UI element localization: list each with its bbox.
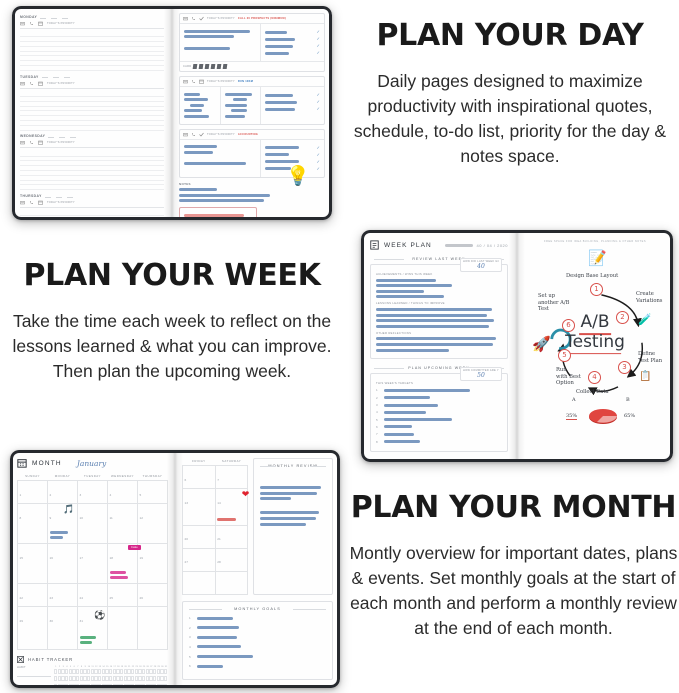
day-number: 27 xyxy=(185,560,188,564)
day-number: 3 xyxy=(80,493,82,497)
check-icon: ✓ xyxy=(317,160,320,164)
list-item: 5 xyxy=(376,418,502,422)
priority-text: Call 20 prospects (minimum) xyxy=(238,17,286,20)
check-icon: ✓ xyxy=(317,167,320,171)
week-planner-right-page: FREE SPACE FOR IDEA BUILDING, PLANNING &… xyxy=(517,230,673,462)
day-block-tuesday: TUESDAY TODAY'S PRIORITY xyxy=(20,75,164,130)
day-icon-row: TODAY'S PRIORITY xyxy=(20,81,164,89)
step-5-label: Run with Best Option xyxy=(556,367,581,387)
table-row: 29 30 31 ⚽ xyxy=(18,607,168,649)
phone-icon xyxy=(29,200,34,205)
month-name-value: January xyxy=(77,459,106,468)
day-number: 5 xyxy=(140,493,142,497)
priority-label: TODAY'S PRIORITY xyxy=(47,141,75,144)
day-number: 18 xyxy=(110,556,113,560)
check-icon: ✓ xyxy=(317,146,320,150)
check-icon: ✓ xyxy=(317,93,320,97)
date-blanks xyxy=(42,75,70,78)
day-number: 15 xyxy=(20,556,23,560)
day-number: 22 xyxy=(20,596,23,600)
monthly-review-lines xyxy=(260,486,326,526)
day-name: THURSDAY xyxy=(20,194,42,198)
table-row: 1 2 3 4 5 xyxy=(18,481,168,504)
habit-name-column: HABIT xyxy=(17,666,51,688)
list-item: 3 xyxy=(376,403,502,407)
calendar-header-row: SUNDAY MONDAY TUESDAY WEDNESDAY THURSDAY xyxy=(18,473,168,481)
calendar-day-cell[interactable] xyxy=(183,571,216,594)
week-date-value: 40 / 04 / 2020 xyxy=(477,243,508,248)
lightbulb-sticker-icon: 💡 xyxy=(286,167,310,186)
day-number: 30 xyxy=(50,619,53,623)
habit-tracker-title: HABIT TRACKER xyxy=(28,657,73,662)
calendar-day-cell[interactable]: 10 xyxy=(78,504,108,544)
calendar-icon xyxy=(38,200,43,205)
ab-testing-diagram: A/B Testing 📝 Design Base Layout 1 Creat… xyxy=(526,243,664,448)
calendar-day-cell[interactable]: 2 xyxy=(48,481,78,504)
commitment-score-value: 50 xyxy=(463,372,499,379)
priority-label: TODAY'S PRIORITY xyxy=(207,17,235,20)
calendar-day-cell[interactable]: 6 xyxy=(183,466,216,489)
table-row: 13 14 ❤ xyxy=(183,489,248,526)
list-item: 4 xyxy=(376,410,502,414)
phone-icon xyxy=(191,132,196,137)
schedule-column-left xyxy=(180,87,220,124)
achievements-lines xyxy=(376,279,502,299)
calendar-day-cell[interactable]: 24 xyxy=(78,584,108,607)
heart-sticker-icon: ❤ xyxy=(242,490,250,499)
page-title: PLAN YOUR MONTH xyxy=(348,490,679,525)
promo-body: Take the time each week to reflect on th… xyxy=(2,309,342,384)
document-pencil-icon: 📝 xyxy=(588,249,607,267)
step-6-number: 6 xyxy=(562,319,575,332)
list-item: 5 xyxy=(189,655,326,659)
todo-lines xyxy=(20,29,164,70)
step-2-number: 2 xyxy=(616,311,629,324)
table-row: 15 16 17 18 Cake 19 xyxy=(18,544,168,584)
day-number: 31 xyxy=(80,619,83,623)
review-score-box: HOW DID LAST WEEK GO? 40 xyxy=(460,258,502,272)
entry-header: TODAY'S PRIORITY Call 20 prospects (mini… xyxy=(180,14,324,24)
day-number: 6 xyxy=(185,478,187,482)
promo-block-month: PLAN YOUR MONTH Montly overview for impo… xyxy=(348,490,679,640)
priority-label: TODAY'S PRIORITY xyxy=(47,22,75,25)
calendar-day-cell[interactable]: 16 xyxy=(48,544,78,584)
calendar-header-row: FRIDAY SATURDAY xyxy=(183,458,248,466)
todo-item: ✓ xyxy=(265,153,320,157)
stamp xyxy=(217,64,222,69)
lessons-label: LESSONS LEARNED / THINGS TO IMPROVE xyxy=(376,301,502,305)
table-row: 20 21 xyxy=(183,525,248,548)
step-3-label: Define Test Plan xyxy=(638,351,662,364)
day-number: 16 xyxy=(50,556,53,560)
day-number: 11 xyxy=(110,516,113,520)
calendar-day-cell[interactable]: 25 xyxy=(108,584,138,607)
calendar-icon xyxy=(38,21,43,26)
day-block-thursday: THURSDAY TODAY'S PRIORITY xyxy=(20,194,164,220)
entry-body: ✓ ✓ ✓ ✓ xyxy=(180,24,324,61)
day-number: 20 xyxy=(185,537,188,541)
calendar-icon xyxy=(38,140,43,145)
calendar-day-cell[interactable]: 13 xyxy=(183,489,216,526)
music-note-sticker-icon: 🎵 xyxy=(63,505,74,514)
week-planner-left-page: WEEK PLAN 40 / 04 / 2020 REVIEW LAST WEE… xyxy=(361,230,517,462)
todo-item: ✓ xyxy=(265,51,320,55)
weekday-header: MONDAY xyxy=(48,473,78,481)
highlight-box xyxy=(179,207,257,220)
phone-icon xyxy=(191,79,196,84)
day-number: 13 xyxy=(185,501,188,505)
calendar-day-cell[interactable]: 20 xyxy=(183,525,216,548)
step-1-number: 1 xyxy=(590,283,603,296)
check-icon: ✓ xyxy=(317,100,320,104)
weekday-header: WEDNESDAY xyxy=(108,473,138,481)
monthly-goals-title: MONTHLY GOALS xyxy=(189,607,326,611)
day-icon-row: TODAY'S PRIORITY xyxy=(20,21,164,29)
phone-icon xyxy=(29,81,34,86)
list-item: 1 xyxy=(189,616,326,620)
table-row xyxy=(183,571,248,594)
list-item: 6 xyxy=(189,664,326,668)
todo-item: ✓ xyxy=(265,107,320,111)
daily-planner-right-page: TODAY'S PRIORITY Call 20 prospects (mini… xyxy=(172,6,332,220)
reflections-lines xyxy=(376,337,502,351)
checkmark-icon xyxy=(199,132,204,137)
calendar-day-cell[interactable]: 27 xyxy=(183,548,216,571)
stamp xyxy=(211,64,216,69)
check-icon: ✓ xyxy=(317,30,320,34)
day-number: 28 xyxy=(217,560,220,564)
monthly-goals-list: 1 2 3 4 5 6 xyxy=(189,616,326,668)
entry-body: ✓ ✓ ✓ xyxy=(180,87,324,124)
calendar-day-cell[interactable]: 30 xyxy=(48,607,78,649)
checklist-icon: 📋 xyxy=(639,371,651,382)
month-title: MONTH xyxy=(32,460,62,467)
day-icon-row: TODAY'S PRIORITY xyxy=(20,200,164,208)
table-row: 8 9 🎵 10 11 12 xyxy=(18,504,168,544)
book-spine xyxy=(509,230,525,462)
day-number: 17 xyxy=(80,556,83,560)
day-block-wednesday: WEDNESDAY TODAY'S PRIORITY xyxy=(20,134,164,189)
entry-header: TODAY'S PRIORITY Accounting xyxy=(180,130,324,140)
day-number: 25 xyxy=(110,596,113,600)
mail-icon xyxy=(183,16,188,21)
daily-entry-friday: TODAY'S PRIORITY Call 20 prospects (mini… xyxy=(179,13,325,72)
mail-icon xyxy=(183,132,188,137)
step-4-number: 4 xyxy=(588,371,601,384)
priority-label: TODAY'S PRIORITY xyxy=(207,133,235,136)
week-planner-photo: WEEK PLAN 40 / 04 / 2020 REVIEW LAST WEE… xyxy=(361,230,673,462)
entry-todo-list: ✓ ✓ ✓ xyxy=(260,87,324,124)
week-plan-header: WEEK PLAN 40 / 04 / 2020 xyxy=(370,240,508,250)
week-plan-title: WEEK PLAN xyxy=(384,242,432,249)
commitment-score-box: HOW COMMITTED ARE YOU? 50 xyxy=(460,367,502,381)
schedule-column-right xyxy=(220,87,261,124)
date-blanks xyxy=(48,135,76,138)
month-header: MONTH January xyxy=(17,458,168,468)
list-item: 3 xyxy=(189,635,326,639)
pie-value-a: 35% xyxy=(566,413,577,420)
check-icon: ✓ xyxy=(317,153,320,157)
step-3-number: 3 xyxy=(618,361,631,374)
stamp xyxy=(199,64,204,69)
day-number: 21 xyxy=(217,537,220,541)
step-5-number: 5 xyxy=(558,349,571,362)
calendar-icon xyxy=(17,458,27,468)
day-number: 8 xyxy=(20,516,22,520)
todo-item: ✓ xyxy=(265,37,320,41)
priority-text: Accounting xyxy=(238,133,258,136)
calendar-day-cell[interactable]: 8 xyxy=(18,504,48,544)
calendar-icon xyxy=(38,81,43,86)
book-spine xyxy=(164,6,180,220)
habit-cell-columns: 1234567891011121314151617181920212223242… xyxy=(54,666,168,688)
todo-item: ✓ xyxy=(265,93,320,97)
daily-entry-saturday: TODAY'S PRIORITY Run 10km xyxy=(179,76,325,125)
todo-item: ✓ xyxy=(265,100,320,104)
weekday-header: TUESDAY xyxy=(78,473,108,481)
entry-notes xyxy=(180,140,260,177)
mail-icon xyxy=(20,21,25,26)
pie-label-a: A xyxy=(572,397,576,403)
habit-tracker-header: HABIT TRACKER xyxy=(17,656,168,663)
pie-shape xyxy=(584,401,622,427)
promo-body: Montly overview for important dates, pla… xyxy=(348,541,679,640)
calendar-day-cell[interactable] xyxy=(215,571,248,594)
day-header: WEDNESDAY xyxy=(20,134,164,138)
step-6-label: Set up another A/B Test xyxy=(538,293,570,313)
soccer-ball-sticker-icon: ⚽ xyxy=(94,611,105,620)
day-header: MONDAY xyxy=(20,15,164,19)
review-panel: HOW DID LAST WEEK GO? 40 ACHIEVEMENTS / … xyxy=(370,264,508,359)
month-planner-left-page: MONTH January SUNDAY MONDAY TUESDAY WEDN… xyxy=(10,450,175,688)
weekday-header: SUNDAY xyxy=(18,473,48,481)
habit-stamp-row: CARD xyxy=(180,61,324,71)
list-item: 2 xyxy=(376,396,502,400)
mail-icon xyxy=(20,81,25,86)
day-number: 12 xyxy=(140,516,143,520)
table-row: 6 7 xyxy=(183,466,248,489)
day-number: 2 xyxy=(50,493,52,497)
day-name: MONDAY xyxy=(20,15,37,19)
month-calendar-left: SUNDAY MONDAY TUESDAY WEDNESDAY THURSDAY… xyxy=(17,473,168,650)
daily-planner-photo: MONDAY TODAY'S PRIORITY TUESDAY TODAY'S … xyxy=(12,6,332,220)
day-number: 29 xyxy=(20,619,23,623)
calendar-day-cell[interactable]: 22 xyxy=(18,584,48,607)
promo-block-week: PLAN YOUR WEEK Take the time each week t… xyxy=(2,258,342,384)
list-item: 8 xyxy=(376,440,502,444)
habit-tracker-grid: HABIT 1234567891011121314151617181920212… xyxy=(17,666,168,688)
calendar-icon xyxy=(199,79,204,84)
phone-icon xyxy=(29,21,34,26)
check-icon: ✓ xyxy=(317,107,320,111)
weekday-header: THURSDAY xyxy=(138,473,168,481)
calendar-day-cell[interactable]: 3 xyxy=(78,481,108,504)
calendar-day-cell[interactable]: 23 xyxy=(48,584,78,607)
habit-row[interactable] xyxy=(54,669,168,674)
checkmark-icon xyxy=(199,16,204,21)
plan-panel: HOW COMMITTED ARE YOU? 50 THIS WEEK'S TA… xyxy=(370,373,508,452)
stamp xyxy=(223,64,228,69)
entry-notes xyxy=(180,24,260,61)
entry-todo-list: ✓ ✓ ✓ ✓ xyxy=(260,24,324,61)
priority-text: Run 10km xyxy=(238,80,253,83)
todo-item: ✓ xyxy=(265,146,320,150)
calendar-day-cell[interactable]: 31 ⚽ xyxy=(78,607,108,649)
list-item: 2 xyxy=(189,626,326,630)
day-header: TUESDAY xyxy=(20,75,164,79)
day-number: 14 xyxy=(217,501,220,505)
step-1-label: Design Base Layout xyxy=(566,273,618,280)
calendar-day-cell[interactable]: 19 xyxy=(138,544,168,584)
stamp xyxy=(205,64,210,69)
calendar-day-cell[interactable]: 12 xyxy=(138,504,168,544)
day-name: TUESDAY xyxy=(20,75,39,79)
reflections-label: OTHER REFLECTIONS xyxy=(376,331,502,335)
calendar-day-cell[interactable]: 21 xyxy=(215,525,248,548)
date-blanks xyxy=(45,195,73,198)
day-number: 19 xyxy=(140,556,143,560)
promo-block-day: PLAN YOUR DAY Daily pages designed to ma… xyxy=(341,18,679,168)
phone-icon xyxy=(191,16,196,21)
entry-header: TODAY'S PRIORITY Run 10km xyxy=(180,77,324,87)
table-row: 27 28 xyxy=(183,548,248,571)
todo-lines xyxy=(20,148,164,189)
day-number: 10 xyxy=(80,516,83,520)
calendar-day-cell[interactable]: 28 xyxy=(215,548,248,571)
day-number: 4 xyxy=(110,493,112,497)
month-calendar-right: FRIDAY SATURDAY 6 7 13 14 ❤ xyxy=(182,458,248,595)
list-item: 7 xyxy=(376,432,502,436)
page-title: PLAN YOUR DAY xyxy=(341,18,679,53)
mail-icon xyxy=(183,79,188,84)
checkbox-icon xyxy=(17,656,24,663)
calendar-day-cell[interactable]: 11 xyxy=(108,504,138,544)
monthly-goals-panel: MONTHLY GOALS 1 2 3 4 5 6 xyxy=(182,601,333,680)
review-score-value: 40 xyxy=(463,263,499,270)
weekday-header: FRIDAY xyxy=(183,458,216,466)
day-block-monday: MONDAY TODAY'S PRIORITY xyxy=(20,15,164,70)
habit-row[interactable] xyxy=(54,684,168,688)
week-date: 40 / 04 / 2020 xyxy=(445,241,508,249)
rocket-icon: 🚀 xyxy=(532,335,551,353)
calendar-day-cell[interactable]: 29 xyxy=(18,607,48,649)
mail-icon xyxy=(20,200,25,205)
pie-label-b: B xyxy=(626,397,630,403)
targets-list: 1 2 3 4 5 6 7 8 xyxy=(376,388,502,443)
calendar-day-cell[interactable]: 1 xyxy=(18,481,48,504)
step-4-label: Collect Data xyxy=(576,389,609,396)
weekday-header: SATURDAY xyxy=(215,458,248,466)
priority-label: TODAY'S PRIORITY xyxy=(207,80,235,83)
day-number: 26 xyxy=(140,596,143,600)
calendar-day-cell[interactable]: 17 xyxy=(78,544,108,584)
check-icon: ✓ xyxy=(317,37,320,41)
stamp xyxy=(193,64,198,69)
page-title: PLAN YOUR WEEK xyxy=(2,258,342,293)
achievements-label: ACHIEVEMENTS / WINS THIS WEEK xyxy=(376,272,502,276)
calendar-day-cell[interactable]: 9 🎵 xyxy=(48,504,78,544)
monthly-review-title: MONTHLY REVIEW xyxy=(260,464,326,468)
todo-item: ✓ xyxy=(265,44,320,48)
day-number: 23 xyxy=(50,596,53,600)
calendar-day-cell[interactable] xyxy=(108,607,138,649)
todo-lines xyxy=(20,208,164,220)
day-icon-row: TODAY'S PRIORITY xyxy=(20,140,164,148)
step-2-label: Create Variations xyxy=(636,291,662,304)
mail-icon xyxy=(20,140,25,145)
priority-label: TODAY'S PRIORITY xyxy=(47,82,75,85)
calendar-day-cell[interactable]: 7 xyxy=(215,466,248,489)
month-planner-photo: MONTH January SUNDAY MONDAY TUESDAY WEDN… xyxy=(10,450,340,688)
pie-value-b: 65% xyxy=(624,413,635,419)
book-spine xyxy=(167,450,183,688)
todo-item: ✓ xyxy=(265,30,320,34)
table-row: 22 23 24 25 26 xyxy=(18,584,168,607)
check-icon: ✓ xyxy=(317,51,320,55)
daily-planner-left-page: MONDAY TODAY'S PRIORITY TUESDAY TODAY'S … xyxy=(12,6,172,220)
day-number: 1 xyxy=(20,493,22,497)
phone-icon xyxy=(29,140,34,145)
day-header: THURSDAY xyxy=(20,194,164,198)
lessons-lines xyxy=(376,308,502,328)
targets-label: THIS WEEK'S TARGETS xyxy=(376,381,502,385)
results-pie-chart xyxy=(584,401,622,432)
calendar-day-cell[interactable]: 5 xyxy=(138,481,168,504)
day-name: WEDNESDAY xyxy=(20,134,45,138)
calendar-day-cell[interactable]: 4 xyxy=(108,481,138,504)
month-planner-right-page: FRIDAY SATURDAY 6 7 13 14 ❤ xyxy=(175,450,340,688)
notebook-icon xyxy=(370,240,379,250)
list-item: 6 xyxy=(376,425,502,429)
calendar-day-cell[interactable]: 14 ❤ xyxy=(215,489,248,526)
calendar-day-cell[interactable]: 18 Cake xyxy=(108,544,138,584)
stamp-label: CARD xyxy=(183,65,191,68)
day-number: 7 xyxy=(217,478,219,482)
check-icon: ✓ xyxy=(317,44,320,48)
day-number: 24 xyxy=(80,596,83,600)
priority-label: TODAY'S PRIORITY xyxy=(47,201,75,204)
variations-icon: 🧪 xyxy=(638,313,652,326)
promo-body: Daily pages designed to maximize product… xyxy=(341,69,679,168)
center-title-line2: Testing xyxy=(565,332,625,352)
date-blanks xyxy=(40,16,68,19)
habit-day-numbers: 1234567891011121314151617181920212223242… xyxy=(54,666,168,668)
calendar-day-cell[interactable]: 26 xyxy=(138,584,168,607)
todo-item: ✓ xyxy=(265,160,320,164)
notes-content xyxy=(179,188,325,202)
habit-row[interactable] xyxy=(54,676,168,681)
list-item: 4 xyxy=(189,645,326,649)
calendar-day-cell[interactable] xyxy=(138,607,168,649)
todo-lines xyxy=(20,89,164,130)
calendar-day-cell[interactable]: 15 xyxy=(18,544,48,584)
monthly-review-panel: MONTHLY REVIEW xyxy=(253,458,333,595)
day-number: 9 xyxy=(50,516,52,520)
habit-name-label: HABIT xyxy=(17,666,51,669)
list-item: 1 xyxy=(376,388,502,392)
